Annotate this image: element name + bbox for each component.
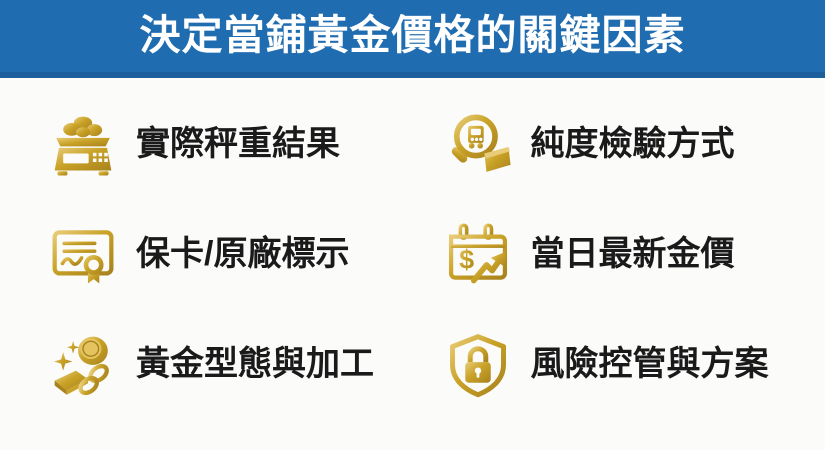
factor-grid: 實際秤重結果 [0,78,825,450]
factor-label: 純度檢驗方式 [531,127,735,163]
factor-label: 風險控管與方案 [531,347,769,383]
factor-item-risk-control: 風險控管與方案 [419,310,802,420]
factor-label: 實際秤重結果 [136,127,340,163]
svg-text:$: $ [459,244,474,274]
magnifier-gold-bar-icon [439,109,517,181]
factor-label: 黃金型態與加工 [136,347,374,383]
factor-label: 當日最新金價 [531,237,735,273]
gold-bar-coin-chain-icon [44,329,122,401]
calendar-price-trend-icon: $ [439,219,517,291]
factor-item-purity: 純度檢驗方式 [419,90,802,200]
factor-item-gold-form: 黃金型態與加工 [24,310,407,420]
certificate-seal-icon [44,219,122,291]
factor-item-daily-price: $ 當日最新金價 [419,200,802,310]
factor-label: 保卡/原廠標示 [136,237,349,273]
shield-lock-icon [439,329,517,401]
header-bar: 決定當鋪黃金價格的關鍵因素 [0,0,825,78]
page-title: 決定當鋪黃金價格的關鍵因素 [140,15,686,56]
factor-item-certificate: 保卡/原廠標示 [24,200,407,310]
factor-item-weighing: 實際秤重結果 [24,90,407,200]
weighing-scale-icon [44,109,122,181]
infographic-poster: 決定當鋪黃金價格的關鍵因素 [0,0,825,450]
